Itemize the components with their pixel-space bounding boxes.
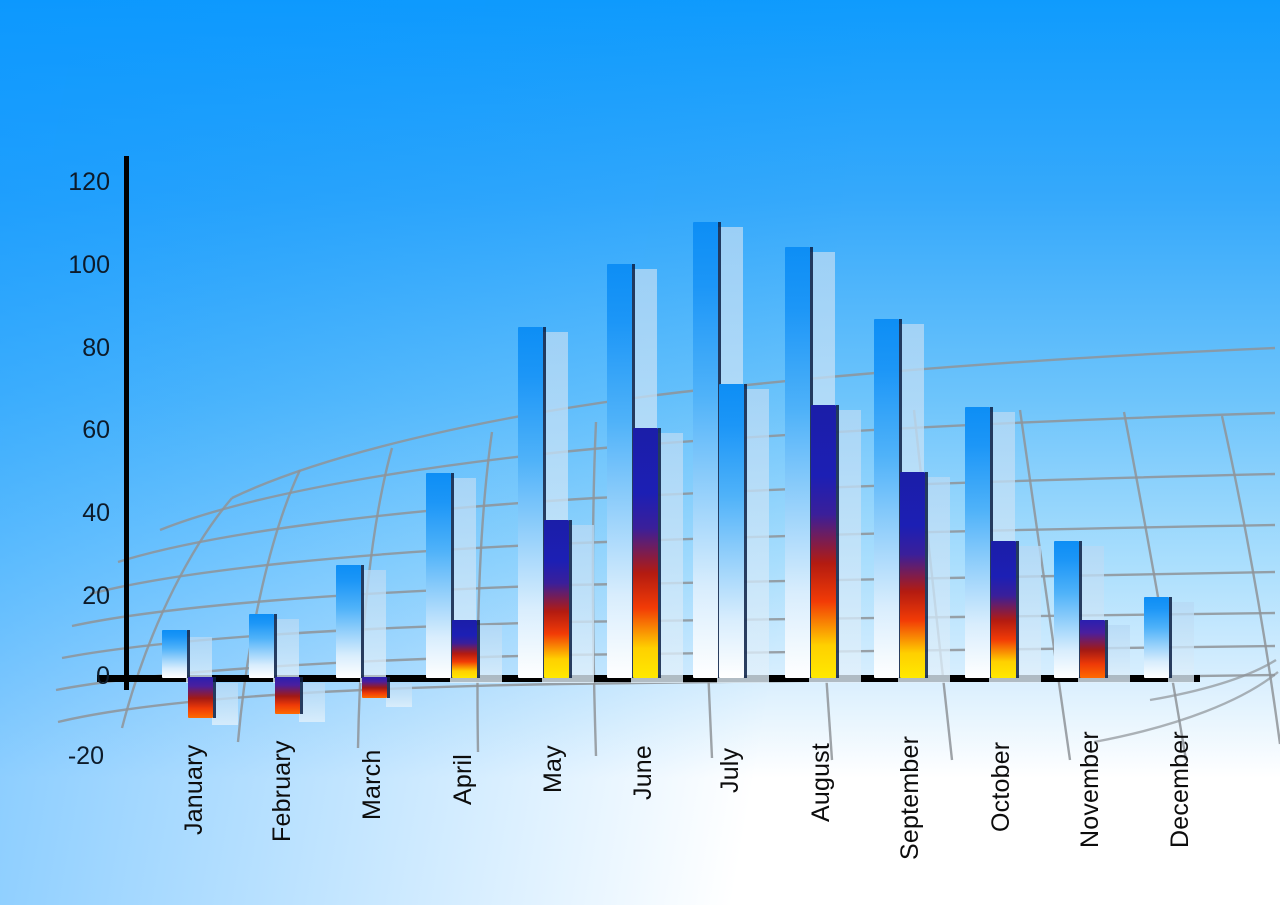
y-axis-line xyxy=(124,156,129,690)
bar-october-series2 xyxy=(991,541,1016,678)
x-tick-label-february: February xyxy=(268,740,297,842)
x-tick-label-december: December xyxy=(1166,731,1195,848)
y-tick-label-120: 120 xyxy=(52,170,110,195)
x-tick-label-april: April xyxy=(449,754,478,805)
bar-january-series2 xyxy=(188,677,213,718)
bar-august-series2 xyxy=(811,405,836,678)
bar-november-series1 xyxy=(1054,541,1079,678)
bar-june-series1 xyxy=(607,264,632,678)
y-tick-label-0: 0 xyxy=(52,664,110,689)
y-tick-label-20: 20 xyxy=(52,584,110,609)
bar-may-series2 xyxy=(544,520,569,678)
bar-february-series1 xyxy=(249,614,274,678)
bar-march-series1 xyxy=(336,565,361,678)
plot-area: 120 100 80 60 40 20 0 -20 xyxy=(0,0,1280,905)
x-tick-label-july: July xyxy=(716,748,745,793)
bar-april-series1 xyxy=(426,473,451,678)
bar-september-series2 xyxy=(900,472,925,678)
bar-july-series1 xyxy=(693,222,718,678)
bar-october-series1 xyxy=(965,407,990,678)
chart-canvas: 120 100 80 60 40 20 0 -20 xyxy=(0,0,1280,905)
y-tick-label-100: 100 xyxy=(52,253,110,278)
x-tick-label-march: March xyxy=(358,750,387,820)
x-tick-label-september: September xyxy=(896,736,925,860)
bar-june-series2 xyxy=(633,428,658,678)
x-tick-label-october: October xyxy=(987,742,1016,832)
bar-july-series2 xyxy=(719,384,744,678)
x-tick-label-august: August xyxy=(807,743,836,822)
bar-september-series1 xyxy=(874,319,899,678)
y-tick-label-neg20: -20 xyxy=(46,744,104,769)
y-tick-label-80: 80 xyxy=(52,336,110,361)
bar-november-series2 xyxy=(1080,620,1105,678)
bar-april-series2 xyxy=(452,620,477,678)
bar-february-series2 xyxy=(275,677,300,714)
bar-may-series1 xyxy=(518,327,543,678)
bar-december-series1 xyxy=(1144,597,1169,678)
y-tick-label-40: 40 xyxy=(52,501,110,526)
x-tick-label-november: November xyxy=(1076,731,1105,848)
x-tick-label-june: June xyxy=(629,745,658,800)
bar-august-series1 xyxy=(785,247,810,678)
bar-january-series1 xyxy=(162,630,187,678)
bar-march-series2 xyxy=(362,677,387,698)
y-tick-mark-zero xyxy=(112,675,140,680)
x-tick-label-may: May xyxy=(539,745,568,793)
x-tick-label-january: January xyxy=(180,745,209,835)
y-tick-label-60: 60 xyxy=(52,418,110,443)
